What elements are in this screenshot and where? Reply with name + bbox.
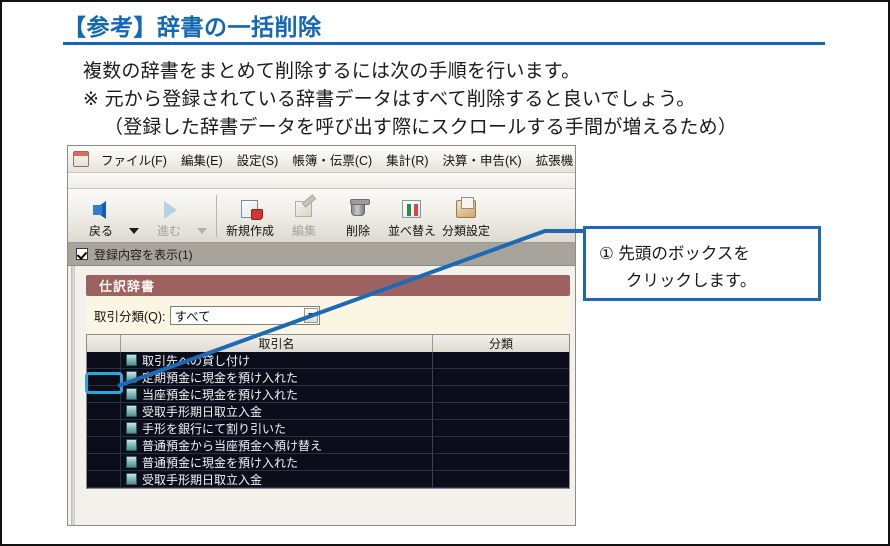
category-box-icon bbox=[454, 199, 478, 221]
menu-item-books[interactable]: 帳簿・伝票(C) bbox=[285, 148, 379, 171]
body-line-2: ※ 元から登録されている辞書データはすべて削除すると良いでしょう。 bbox=[83, 84, 695, 111]
cell-transaction-name-label: 受取手形期日取立入金 bbox=[142, 471, 262, 488]
cell-category[interactable] bbox=[433, 420, 569, 436]
body-line-3: （登録した辞書データを呼び出す際にスクロールする手間が増えるため） bbox=[104, 112, 737, 139]
menu-item-settlement[interactable]: 決算・申告(K) bbox=[436, 148, 529, 171]
menu-bar: ファイル(F) 編集(E) 設定(S) 帳簿・伝票(C) 集計(R) 決算・申告… bbox=[68, 146, 575, 173]
row-selector-cell[interactable] bbox=[87, 420, 121, 436]
cell-category[interactable] bbox=[433, 352, 569, 368]
transaction-category-label: 取引分類(Q): bbox=[94, 306, 166, 325]
grid-body: 取引先への貸し付け定期預金に現金を預け入れた当座預金に現金を預け入れた受取手形期… bbox=[87, 352, 569, 488]
callout-line-1: ① 先頭のボックスを bbox=[599, 240, 750, 264]
show-registered-contents-row[interactable]: 登録内容を表示(1) bbox=[68, 243, 575, 266]
toolbar: 戻る 進む 新規作成 編集 削除 並べ替え 分類設定 bbox=[68, 189, 575, 243]
cell-transaction-name[interactable]: 普通預金から当座預金へ預け替え bbox=[121, 437, 433, 453]
toolbar-button-new[interactable]: 新規作成 bbox=[223, 199, 277, 239]
toolbar-separator bbox=[216, 195, 217, 237]
pane-left-edge bbox=[71, 266, 75, 526]
dictionary-entry-icon bbox=[126, 405, 137, 417]
toolbar-label-category: 分類設定 bbox=[442, 222, 490, 239]
row-selector-cell[interactable] bbox=[87, 437, 121, 453]
section-header-journal-dictionary: 仕訳辞書 bbox=[86, 275, 570, 296]
cell-transaction-name[interactable]: 当座預金に現金を預け入れた bbox=[121, 386, 433, 402]
toolbar-label-edit: 編集 bbox=[292, 222, 316, 239]
table-row[interactable]: 普通預金から当座預金へ預け替え bbox=[87, 437, 569, 454]
cell-transaction-name-label: 当座預金に現金を預け入れた bbox=[142, 386, 298, 403]
cell-transaction-name-label: 普通預金に現金を預け入れた bbox=[142, 454, 298, 471]
menu-item-settings[interactable]: 設定(S) bbox=[230, 148, 286, 171]
transaction-category-select[interactable]: すべて bbox=[170, 306, 320, 325]
show-registered-contents-label: 登録内容を表示(1) bbox=[94, 246, 193, 263]
callout-step-1: ① 先頭のボックスを クリックします。 bbox=[583, 226, 821, 301]
application-icon bbox=[73, 151, 89, 167]
table-row[interactable]: 普通預金に現金を預け入れた bbox=[87, 454, 569, 471]
toolbar-label-delete: 削除 bbox=[346, 222, 370, 239]
toolbar-button-back[interactable]: 戻る bbox=[74, 199, 128, 239]
toolbar-button-sort[interactable]: 並べ替え bbox=[385, 199, 439, 239]
title-underline-rule bbox=[63, 42, 825, 45]
callout-line-2: クリックします。 bbox=[626, 267, 756, 291]
cell-transaction-name[interactable]: 受取手形期日取立入金 bbox=[121, 471, 433, 487]
transaction-category-value: すべて bbox=[175, 306, 211, 325]
show-registered-contents-checkbox[interactable] bbox=[76, 248, 88, 260]
sort-arrows-icon bbox=[400, 199, 424, 221]
row-selector-cell[interactable] bbox=[87, 471, 121, 487]
cell-transaction-name-label: 定期預金に現金を預け入れた bbox=[142, 369, 298, 386]
new-document-icon bbox=[238, 199, 262, 221]
cell-transaction-name-label: 受取手形期日取立入金 bbox=[142, 403, 262, 420]
page-title: 【参考】辞書の一括削除 bbox=[63, 8, 322, 42]
row-selector-cell[interactable] bbox=[87, 386, 121, 402]
toolbar-label-new: 新規作成 bbox=[226, 222, 274, 239]
section-header-label: 仕訳辞書 bbox=[99, 276, 155, 295]
table-row[interactable]: 当座預金に現金を預け入れた bbox=[87, 386, 569, 403]
dictionary-entry-icon bbox=[126, 354, 137, 366]
chevron-down-icon[interactable] bbox=[304, 308, 318, 323]
edit-pencil-icon bbox=[292, 199, 316, 221]
dictionary-entry-icon bbox=[126, 422, 137, 434]
dictionary-entry-icon bbox=[126, 456, 137, 468]
dictionary-entry-icon bbox=[126, 371, 137, 383]
dictionary-entry-icon bbox=[126, 388, 137, 400]
cell-transaction-name[interactable]: 定期預金に現金を預け入れた bbox=[121, 369, 433, 385]
cell-category[interactable] bbox=[433, 369, 569, 385]
toolbar-label-back: 戻る bbox=[89, 222, 113, 239]
cell-transaction-name-label: 普通預金から当座預金へ預け替え bbox=[142, 437, 322, 454]
cell-category[interactable] bbox=[433, 386, 569, 402]
filter-band: 取引分類(Q): すべて bbox=[86, 296, 570, 334]
row-selector-cell[interactable] bbox=[87, 369, 121, 385]
cell-category[interactable] bbox=[433, 403, 569, 419]
application-window-screenshot: ファイル(F) 編集(E) 設定(S) 帳簿・伝票(C) 集計(R) 決算・申告… bbox=[67, 145, 576, 526]
table-row[interactable]: 定期預金に現金を預け入れた bbox=[87, 369, 569, 386]
row-selector-cell[interactable] bbox=[87, 454, 121, 470]
back-arrow-icon bbox=[89, 199, 113, 221]
cell-transaction-name-label: 取引先への貸し付け bbox=[142, 352, 250, 369]
row-selector-cell[interactable] bbox=[87, 403, 121, 419]
menu-item-file[interactable]: ファイル(F) bbox=[94, 148, 174, 171]
toolbar-button-edit[interactable]: 編集 bbox=[277, 199, 331, 239]
cell-category[interactable] bbox=[433, 437, 569, 453]
table-row[interactable]: 受取手形期日取立入金 bbox=[87, 403, 569, 420]
row-selector-cell[interactable] bbox=[87, 352, 121, 368]
cell-category[interactable] bbox=[433, 454, 569, 470]
dictionary-grid: 取引名 分類 取引先への貸し付け定期預金に現金を預け入れた当座預金に現金を預け入… bbox=[86, 334, 570, 489]
cell-transaction-name[interactable]: 普通預金に現金を預け入れた bbox=[121, 454, 433, 470]
cell-transaction-name[interactable]: 取引先への貸し付け bbox=[121, 352, 433, 368]
grid-header-selector[interactable] bbox=[87, 335, 121, 352]
menu-item-totals[interactable]: 集計(R) bbox=[379, 148, 435, 171]
menu-bar-spacer bbox=[68, 173, 575, 189]
toolbar-button-forward[interactable]: 進む bbox=[142, 199, 196, 239]
cell-transaction-name[interactable]: 受取手形期日取立入金 bbox=[121, 403, 433, 419]
dictionary-entry-icon bbox=[126, 439, 137, 451]
grid-header-transaction-name[interactable]: 取引名 bbox=[121, 335, 433, 352]
trash-can-icon bbox=[346, 199, 370, 221]
dictionary-entry-icon bbox=[126, 473, 137, 485]
cell-transaction-name-label: 手形を銀行にて割り引いた bbox=[142, 420, 286, 437]
grid-header-category[interactable]: 分類 bbox=[433, 335, 569, 352]
back-dropdown-caret-icon[interactable] bbox=[129, 228, 139, 234]
forward-dropdown-caret-icon[interactable] bbox=[197, 228, 207, 234]
grid-header-row: 取引名 分類 bbox=[87, 335, 569, 352]
body-line-1: 複数の辞書をまとめて削除するには次の手順を行います。 bbox=[83, 56, 580, 83]
toolbar-button-delete[interactable]: 削除 bbox=[331, 199, 385, 239]
cell-category[interactable] bbox=[433, 471, 569, 487]
menu-item-edit[interactable]: 編集(E) bbox=[174, 148, 230, 171]
table-row[interactable]: 受取手形期日取立入金 bbox=[87, 471, 569, 488]
menu-item-extensions[interactable]: 拡張機 bbox=[529, 148, 576, 171]
cell-transaction-name[interactable]: 手形を銀行にて割り引いた bbox=[121, 420, 433, 436]
toolbar-label-forward: 進む bbox=[157, 222, 181, 239]
content-pane: 仕訳辞書 取引分類(Q): すべて 取引名 分類 取引先への貸し付け定期預金に現… bbox=[68, 266, 575, 526]
table-row[interactable]: 手形を銀行にて割り引いた bbox=[87, 420, 569, 437]
toolbar-label-sort: 並べ替え bbox=[388, 222, 436, 239]
table-row[interactable]: 取引先への貸し付け bbox=[87, 352, 569, 369]
forward-arrow-icon bbox=[157, 199, 181, 221]
toolbar-button-category[interactable]: 分類設定 bbox=[439, 199, 493, 239]
